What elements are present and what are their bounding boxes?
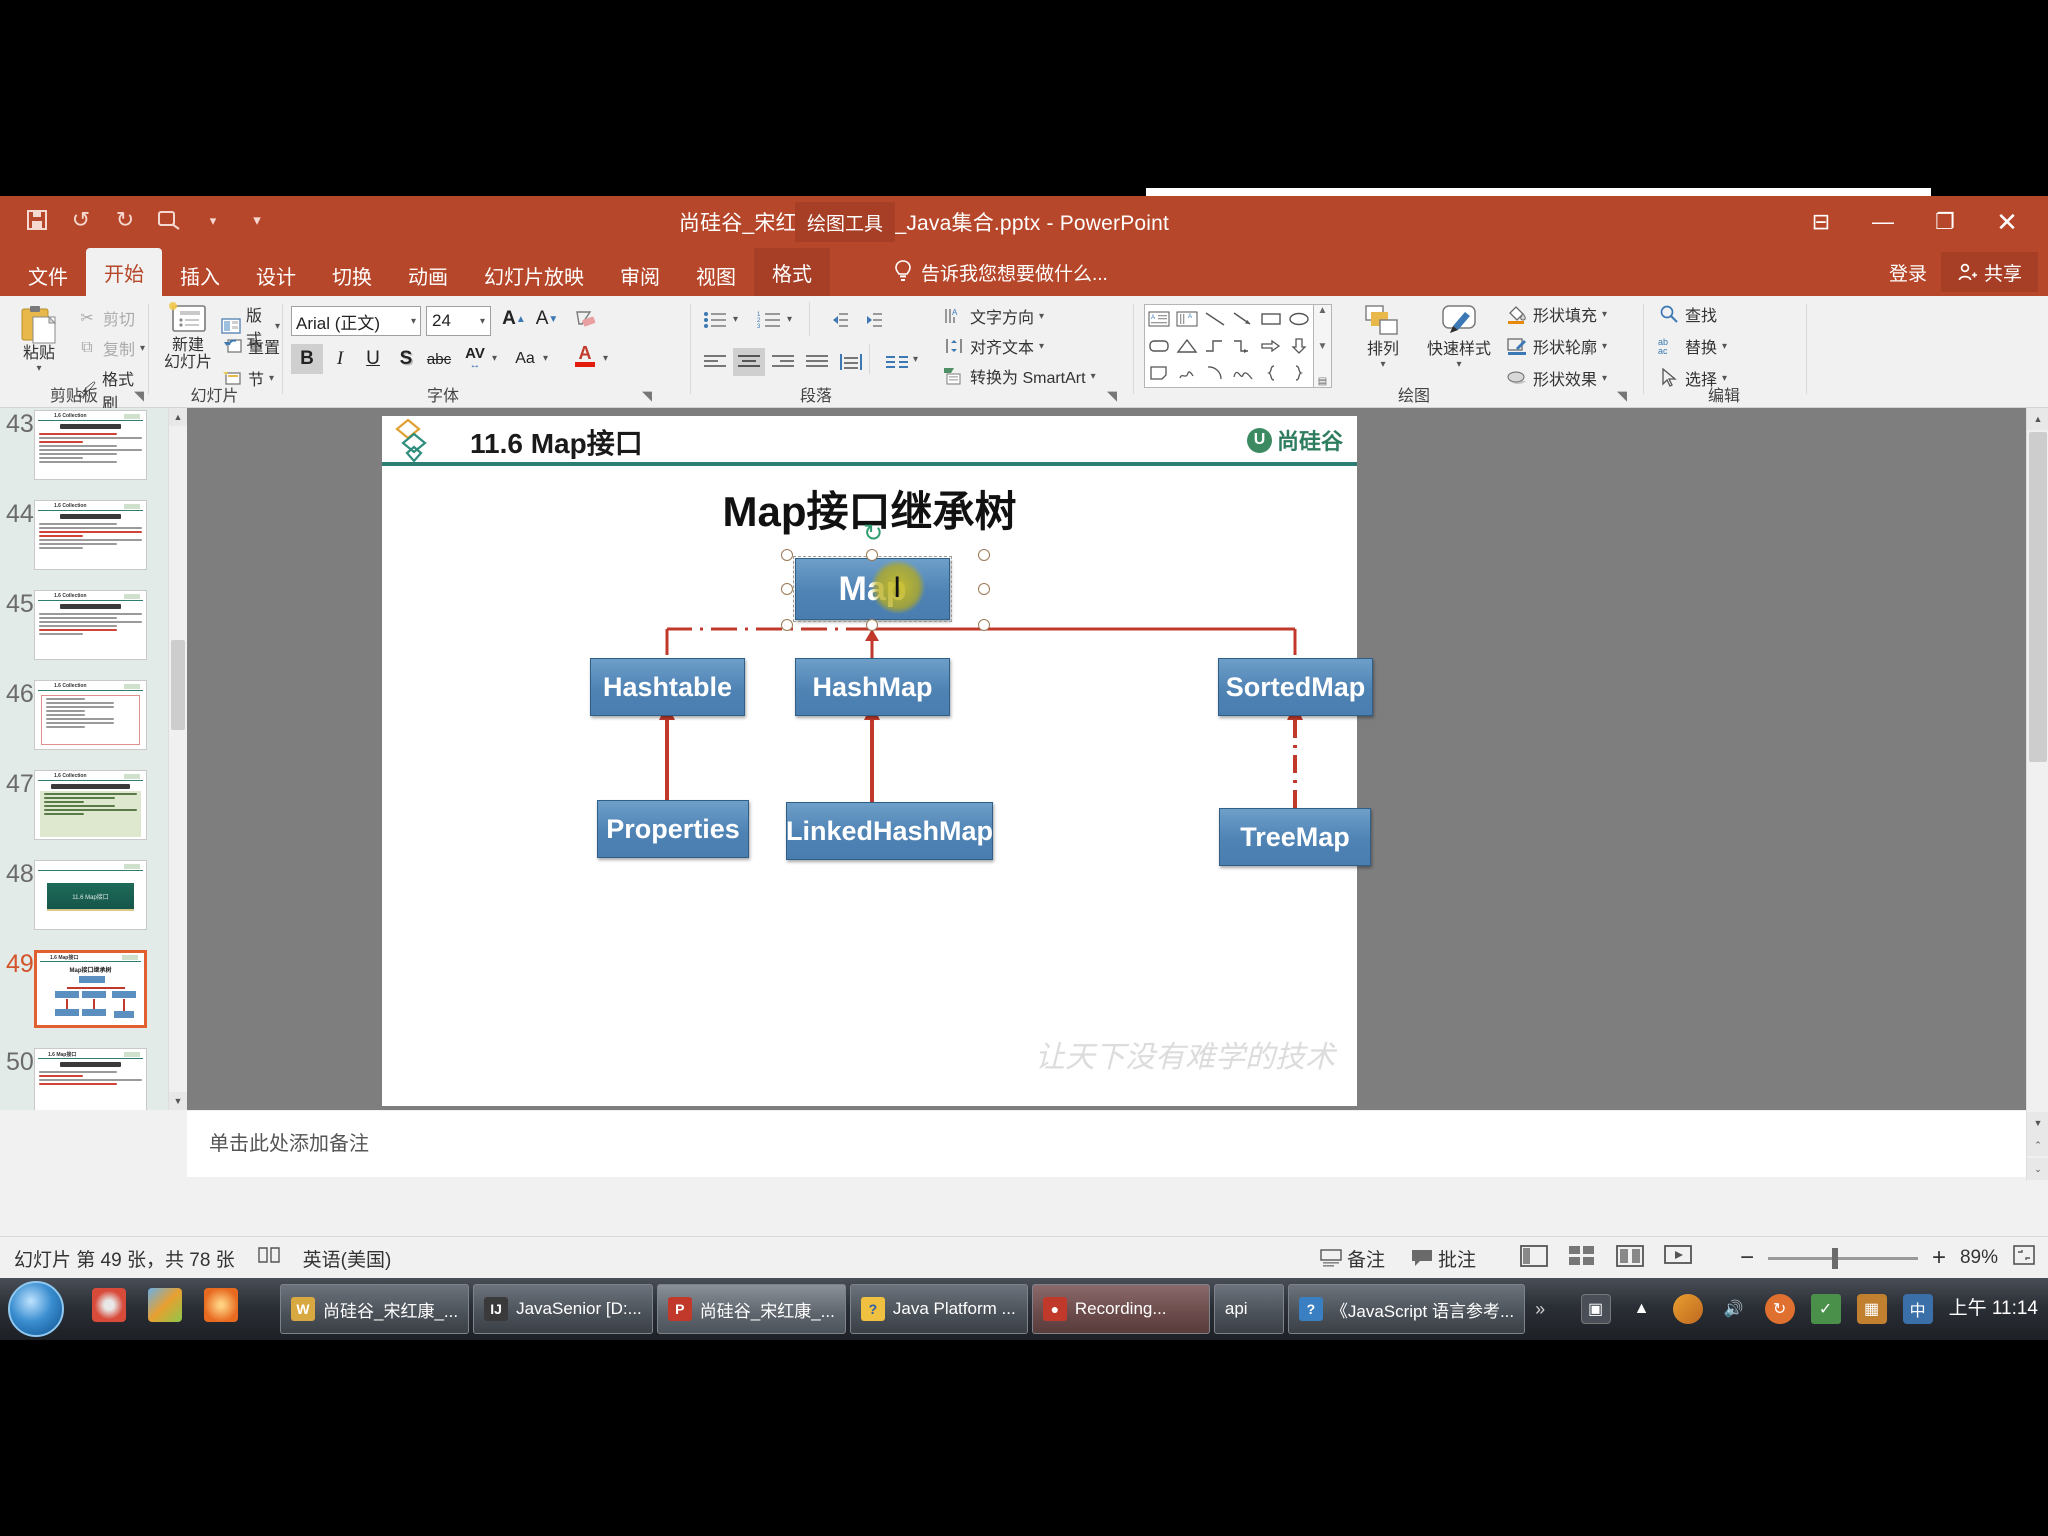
tab-format[interactable]: 格式 — [754, 248, 830, 296]
slide-count-status: 幻灯片 第 49 张，共 78 张 — [14, 1245, 235, 1272]
paste-icon — [19, 304, 59, 346]
taskbar-items: W 尚硅谷_宋红康_... IJ JavaSenior [D:... P 尚硅谷… — [280, 1284, 1551, 1334]
taskbar-item-label: Recording... — [1075, 1299, 1167, 1319]
tab-insert[interactable]: 插入 — [162, 254, 238, 296]
taskbar-item-label: Java Platform ... — [893, 1299, 1016, 1319]
replace-icon: abac — [1658, 335, 1680, 357]
tab-animations[interactable]: 动画 — [390, 254, 466, 296]
network-icon[interactable] — [1673, 1294, 1703, 1324]
status-bar: 幻灯片 第 49 张，共 78 张 英语(美国) 备注 批注 — [0, 1236, 2048, 1278]
thumbnail-preview: 1.6 Collection — [35, 681, 146, 749]
group-drawing: A A — [1134, 296, 1641, 408]
shape-down-arrow-icon[interactable] — [1285, 332, 1313, 359]
grow-font-button[interactable]: A▲ — [498, 304, 530, 334]
numbering-button[interactable]: 123 — [753, 306, 785, 334]
list-item[interactable]: 48 11.6 Map接口 — [0, 854, 185, 930]
window-title: 尚硅谷_宋红康_第11章_Java集合.pptx - PowerPoint — [0, 196, 2048, 248]
shape-fill-button[interactable]: 形状填充 ▾ — [1506, 302, 1607, 326]
zoom-controls: − + 89% — [1740, 1237, 2036, 1279]
account-area: 登录 共享 — [1875, 248, 2048, 296]
justify-button[interactable] — [801, 348, 833, 376]
comments-label: 批注 — [1438, 1245, 1476, 1272]
align-left-button[interactable] — [699, 348, 731, 376]
copy-icon: ⧉ — [76, 337, 98, 359]
show-desktop-icon[interactable]: ▣ — [1581, 1294, 1611, 1324]
bullets-button[interactable] — [699, 306, 731, 334]
slide-watermark: 让天下没有难学的技术 — [1035, 1032, 1335, 1076]
clock[interactable]: 上午 11:14 — [1949, 1298, 2038, 1320]
share-button[interactable]: 共享 — [1941, 252, 2038, 292]
align-right-button[interactable] — [767, 348, 799, 376]
scroll-down-icon[interactable]: ▼ — [169, 1092, 187, 1110]
character-spacing-button[interactable]: AV ↔ — [459, 342, 491, 372]
shape-effects-label: 形状效果 — [1533, 366, 1597, 390]
thumbnail-number: 47 — [6, 770, 34, 799]
strikethrough-button[interactable]: abc — [423, 344, 455, 374]
powerpoint-icon: P — [668, 1297, 692, 1321]
quick-styles-button[interactable]: 快速样式 ▾ — [1420, 304, 1498, 370]
taskbar-item-jsref[interactable]: ? 《JavaScript 语言参考... — [1288, 1284, 1525, 1334]
ribbon-tab-strip: 文件 开始 插入 设计 切换 动画 幻灯片放映 审阅 视图 格式 告诉我您想要做… — [0, 248, 2048, 296]
chevron-down-icon[interactable]: ▾ — [1602, 341, 1607, 352]
slide-thumbnail[interactable]: 1.6 Map接口 — [34, 1048, 147, 1110]
diagram-node-sortedmap[interactable]: SortedMap — [1218, 658, 1373, 716]
slide-canvas[interactable]: 11.6 Map接口 U 尚硅谷 Map接口继承树 — [382, 416, 1357, 1106]
shape-gallery-scrollbar[interactable]: ▲ ▼ ▤ — [1314, 304, 1332, 388]
smartart-icon — [943, 365, 965, 387]
drawing-dialog-launcher[interactable]: ◥ — [1617, 388, 1627, 404]
font-name-input[interactable]: Arial (正文) ▾ — [291, 306, 421, 336]
lightbulb-icon — [893, 260, 913, 284]
intellij-icon: IJ — [484, 1297, 508, 1321]
shape-textbox-icon[interactable]: A — [1145, 305, 1173, 332]
taskbar-item-javadoc[interactable]: ? Java Platform ... — [850, 1284, 1028, 1334]
chrome-icon[interactable] — [92, 1288, 126, 1322]
tab-review[interactable]: 审阅 — [602, 254, 678, 296]
taskbar-overflow-icon[interactable]: » — [1529, 1299, 1551, 1320]
notes-label: 备注 — [1347, 1245, 1385, 1272]
font-color-button[interactable]: A — [569, 340, 601, 370]
rotate-handle[interactable]: ↻ — [860, 520, 886, 546]
comments-toggle-button[interactable]: 批注 — [1411, 1245, 1476, 1272]
text-direction-label: 文字方向 — [970, 304, 1034, 328]
clipboard-dialog-launcher[interactable]: ◥ — [134, 388, 144, 404]
clear-formatting-icon[interactable] — [569, 304, 601, 334]
shape-rounded-rectangle-icon[interactable] — [1145, 332, 1173, 359]
svg-text:A: A — [1151, 315, 1155, 321]
group-label-editing: 编辑 — [1644, 382, 1804, 406]
shape-arc-icon[interactable] — [1201, 360, 1229, 387]
resize-handle-ne[interactable] — [978, 549, 990, 561]
thumbnail-preview: 1.6 Map接口 — [35, 1049, 146, 1110]
record-icon: ● — [1043, 1297, 1067, 1321]
slide-thumbnail[interactable]: 1.6 Collection — [34, 680, 147, 750]
convert-to-smartart-button[interactable]: 转换为 SmartArt ▾ — [943, 364, 1096, 388]
shape-right-arrow-icon[interactable] — [1257, 332, 1285, 359]
taskbar-item-word[interactable]: W 尚硅谷_宋红康_... — [280, 1284, 469, 1334]
chevron-down-icon[interactable]: ▾ — [140, 343, 145, 354]
window-controls: ⊟ — ❐ ✕ — [1790, 196, 2038, 248]
normal-view-button[interactable] — [1520, 1245, 1548, 1272]
tab-slideshow[interactable]: 幻灯片放映 — [466, 254, 602, 296]
diagram-node-treemap[interactable]: TreeMap — [1219, 808, 1371, 866]
shape-left-brace-icon[interactable] — [1257, 360, 1285, 387]
diamond-logo-icon — [394, 418, 440, 466]
group-paragraph: ▾ 123 ▾ — [691, 296, 1131, 408]
reading-view-button[interactable] — [1616, 1245, 1644, 1272]
chevron-down-icon[interactable]: ▾ — [787, 314, 792, 325]
scroll-up-icon[interactable]: ▲ — [169, 408, 187, 426]
start-button[interactable] — [8, 1281, 64, 1337]
slide-area-scrollbar[interactable]: ▲ ▼ ⌃ ⌄ — [2026, 408, 2048, 1180]
notes-icon — [1320, 1247, 1342, 1269]
paint-icon[interactable] — [148, 1288, 182, 1322]
brand-logo: U 尚硅谷 — [1247, 424, 1343, 456]
resize-handle-w[interactable] — [781, 583, 793, 595]
update-icon[interactable]: ✓ — [1811, 1294, 1841, 1324]
new-slide-button[interactable]: 新建 幻灯片 — [157, 302, 219, 372]
slide-header-rule — [382, 462, 1357, 466]
context-tool-label: 绘图工具 — [795, 202, 895, 242]
align-center-button[interactable] — [733, 348, 765, 376]
window-title-text: 尚硅谷_宋红康_第11章_Java集合.pptx - PowerPoint — [679, 207, 1169, 237]
reset-button[interactable]: 重置 — [221, 334, 280, 358]
chevron-down-icon[interactable]: ▾ — [1091, 371, 1096, 382]
tell-me-search[interactable]: 告诉我您想要做什么... — [893, 248, 1108, 296]
resize-handle-se[interactable] — [978, 619, 990, 631]
paste-label: 粘贴 — [23, 346, 55, 363]
shape-gallery-grid[interactable]: A A — [1144, 304, 1314, 388]
svg-text:A: A — [1188, 314, 1192, 320]
chevron-down-icon[interactable]: ▾ — [1602, 309, 1607, 320]
scroll-up-icon[interactable]: ▲ — [1318, 305, 1328, 316]
person-add-icon — [1957, 262, 1977, 282]
font-size-value: 24 — [432, 311, 480, 331]
replace-button[interactable]: abac 替换 ▾ — [1658, 334, 1727, 358]
notes-placeholder: 单击此处添加备注 — [209, 1127, 369, 1156]
zoom-slider[interactable] — [1768, 1257, 1918, 1260]
reset-icon — [221, 335, 243, 357]
zoom-in-button[interactable]: + — [1932, 1244, 1946, 1272]
slide-thumbnail[interactable]: 1.6 Collection — [34, 590, 147, 660]
slide-thumbnail[interactable]: 1.6 Collection — [34, 500, 147, 570]
system-tray: ▣ ▲ 🔊 ↻ ✓ ▦ 中 上午 11:14 — [1581, 1278, 2038, 1340]
next-slide-icon[interactable]: ⌄ — [2027, 1158, 2048, 1180]
thumbnail-preview: 1.6 Map接口 Map接口继承树 — [37, 953, 144, 1025]
media-icon[interactable]: ▦ — [1857, 1294, 1887, 1324]
list-item[interactable]: 47 1.6 Collection — [0, 764, 185, 840]
chevron-down-icon[interactable]: ▾ — [1039, 311, 1044, 322]
arrange-button[interactable]: 排列 ▾ — [1352, 304, 1414, 370]
align-text-icon — [943, 335, 965, 357]
chevron-down-icon[interactable]: ▾ — [1602, 373, 1607, 384]
chevron-down-icon[interactable]: ▾ — [1456, 359, 1461, 370]
distribute-text-button[interactable] — [835, 348, 867, 376]
clock-time: 上午 11:14 — [1949, 1298, 2038, 1319]
thumbnail-number: 50 — [6, 1048, 34, 1077]
taskbar-item-label: 《JavaScript 语言参考... — [1331, 1297, 1514, 1322]
list-item[interactable]: 46 1.6 Collection — [0, 674, 185, 750]
shrink-font-button[interactable]: A▼ — [531, 304, 563, 334]
shape-fill-icon — [1506, 303, 1528, 325]
shrink-font-label: A — [536, 308, 549, 330]
status-left: 幻灯片 第 49 张，共 78 张 英语(美国) — [14, 1237, 391, 1279]
taskbar-item-label: api — [1225, 1299, 1248, 1319]
arrange-icon — [1363, 304, 1403, 342]
powerpoint-window: ↺ ↻ ▾ ▾ 尚硅谷_宋红康_第11章_Java集合.pptx - Power… — [0, 196, 2048, 1278]
group-clipboard: 粘贴 ▾ ✂ 剪切 ⧉ 复制 ▾ 🖌 格式刷 剪贴板 ◥ — [0, 296, 148, 408]
shape-arrow-icon[interactable] — [1229, 305, 1257, 332]
group-label-slides: 幻灯片 — [149, 382, 280, 406]
italic-button[interactable]: I — [324, 344, 356, 374]
new-slide-icon — [166, 302, 210, 338]
list-item[interactable]: 49 1.6 Map接口 Map接口继承树 — [0, 944, 185, 1028]
shape-scribble-icon[interactable] — [1173, 360, 1201, 387]
copy-label: 复制 — [103, 336, 135, 360]
slide-thumbnail[interactable]: 1.6 Collection — [34, 410, 147, 480]
font-size-input[interactable]: 24 ▾ — [426, 306, 491, 336]
shield-icon[interactable]: ↻ — [1765, 1294, 1795, 1324]
group-label-paragraph: 段落 — [691, 382, 941, 406]
font-name-value: Arial (正文) — [296, 309, 411, 334]
shape-rectangle-icon[interactable] — [1257, 305, 1285, 332]
thumbnail-number: 45 — [6, 590, 34, 619]
group-label-drawing: 绘图 — [1314, 382, 1514, 406]
taskbar-item-label: 尚硅谷_宋红康_... — [323, 1297, 458, 1322]
screen: ↺ ↻ ▾ ▾ 尚硅谷_宋红康_第11章_Java集合.pptx - Power… — [0, 0, 2048, 1536]
group-label-clipboard: 剪贴板 — [0, 382, 148, 406]
find-button[interactable]: 查找 — [1658, 302, 1717, 326]
svg-text:3: 3 — [757, 324, 761, 329]
spell-check-icon[interactable] — [257, 1245, 281, 1271]
chevron-down-icon[interactable]: ▾ — [480, 316, 485, 327]
shape-line-icon[interactable] — [1201, 305, 1229, 332]
convert-to-smartart-label: 转换为 SmartArt — [970, 364, 1086, 388]
chevron-down-icon[interactable]: ▾ — [543, 353, 548, 364]
notes-toggle-button[interactable]: 备注 — [1320, 1245, 1385, 1272]
thumbnail-number: 44 — [6, 500, 34, 529]
chm-icon: ? — [1299, 1297, 1323, 1321]
font-dialog-launcher[interactable]: ◥ — [642, 388, 652, 404]
title-bar: ↺ ↻ ▾ ▾ 尚硅谷_宋红康_第11章_Java集合.pptx - Power… — [0, 196, 2048, 248]
quick-styles-label: 快速样式 — [1427, 342, 1491, 359]
tab-home[interactable]: 开始 — [86, 248, 162, 296]
paragraph-dialog-launcher[interactable]: ◥ — [1107, 388, 1117, 404]
tab-transitions[interactable]: 切换 — [314, 254, 390, 296]
chevron-down-icon[interactable]: ▾ — [733, 314, 738, 325]
slideshow-button[interactable] — [1664, 1245, 1692, 1272]
find-label: 查找 — [1685, 302, 1717, 326]
fit-to-window-icon[interactable] — [2012, 1244, 2036, 1272]
grow-font-label: A — [502, 308, 516, 330]
taskbar: W 尚硅谷_宋红康_... IJ JavaSenior [D:... P 尚硅谷… — [0, 1278, 2048, 1340]
shape-folded-corner-icon[interactable] — [1145, 360, 1173, 387]
firefox-icon[interactable] — [204, 1288, 238, 1322]
cut-button[interactable]: ✂ 剪切 — [76, 306, 135, 330]
text-cursor: I — [893, 573, 901, 603]
slide-header-title: 11.6 Map接口 — [470, 422, 643, 462]
shape-freeform-curve-icon[interactable] — [1229, 360, 1257, 387]
thumbnail-pane-scrollbar[interactable]: ▲ ▼ — [168, 408, 186, 1110]
group-label-font: 字体 — [283, 382, 603, 406]
taskbar-item-api[interactable]: api — [1214, 1284, 1284, 1334]
thumbnail-preview: 1.6 Collection — [35, 501, 146, 569]
resize-handle-nw[interactable] — [781, 549, 793, 561]
cut-label: 剪切 — [103, 306, 135, 330]
group-editing: 查找 abac 替换 ▾ 选择 ▾ 编辑 — [1644, 296, 1804, 408]
tell-me-text: 告诉我您想要做什么... — [921, 259, 1108, 286]
scroll-down-icon[interactable]: ▼ — [1318, 341, 1328, 352]
bold-button[interactable]: B — [291, 344, 323, 374]
diagram-node-hashtable[interactable]: Hashtable — [590, 658, 745, 716]
shape-elbow-arrow-icon[interactable] — [1229, 332, 1257, 359]
text-shadow-button[interactable]: S — [390, 344, 422, 374]
tab-file[interactable]: 文件 — [10, 254, 86, 296]
diagram-node-linkedhashmap[interactable]: LinkedHashMap — [786, 802, 993, 860]
taskbar-item-intellij[interactable]: IJ JavaSenior [D:... — [473, 1284, 653, 1334]
copy-button[interactable]: ⧉ 复制 ▾ — [76, 336, 145, 360]
group-slides: 新建 幻灯片 版式 ▾ 重置 — [149, 296, 280, 408]
resize-handle-sw[interactable] — [781, 619, 793, 631]
slide-thumbnail[interactable]: 1.6 Collection — [34, 770, 147, 840]
slide-sorter-button[interactable] — [1568, 1245, 1596, 1272]
svg-text:A: A — [952, 308, 958, 317]
sign-in-link[interactable]: 登录 — [1875, 259, 1941, 286]
restore-button[interactable]: ❐ — [1914, 196, 1976, 248]
shape-outline-button[interactable]: 形状轮廓 ▾ — [1506, 334, 1607, 358]
taskbar-item-label: JavaSenior [D:... — [516, 1299, 642, 1319]
diagram-node-properties[interactable]: Properties — [597, 800, 749, 858]
shape-vertical-textbox-icon[interactable]: A — [1173, 305, 1201, 332]
shape-elbow-connector-icon[interactable] — [1201, 332, 1229, 359]
resize-handle-s[interactable] — [866, 619, 878, 631]
language-status[interactable]: 英语(美国) — [303, 1245, 392, 1272]
taskbar-item-label: 尚硅谷_宋红康_... — [700, 1297, 835, 1322]
scrollbar-thumb[interactable] — [171, 640, 185, 730]
resize-handle-n[interactable] — [866, 549, 878, 561]
brand-mark-icon: U — [1247, 428, 1272, 453]
group-font: Arial (正文) ▾ 24 ▾ A▲ A▼ B I U — [283, 296, 688, 408]
chevron-down-icon[interactable]: ▾ — [36, 363, 41, 374]
chevron-down-icon[interactable]: ▾ — [603, 353, 608, 364]
font-color-label: A — [579, 344, 592, 362]
notes-pane[interactable]: 单击此处添加备注 — [187, 1111, 2026, 1177]
slide-canvas-area: 11.6 Map接口 U 尚硅谷 Map接口继承树 — [187, 408, 2026, 1110]
thumbnail-preview: 11.6 Map接口 — [35, 861, 146, 929]
brand-name: 尚硅谷 — [1277, 424, 1343, 456]
scrollbar-thumb[interactable] — [2029, 432, 2047, 762]
svg-text:ac: ac — [1658, 346, 1668, 356]
new-slide-label-line1: 新建 — [172, 338, 204, 355]
quick-launch-bar — [92, 1288, 238, 1322]
chevron-down-icon[interactable]: ▾ — [1722, 341, 1727, 352]
ribbon-content: 粘贴 ▾ ✂ 剪切 ⧉ 复制 ▾ 🖌 格式刷 剪贴板 ◥ — [0, 296, 2048, 408]
share-label: 共享 — [1984, 259, 2022, 286]
tab-design[interactable]: 设计 — [238, 254, 314, 296]
letterbox-bottom — [0, 1340, 2048, 1536]
chevron-down-icon[interactable]: ▾ — [913, 354, 918, 365]
quick-styles-icon — [1437, 304, 1481, 342]
thumbnail-number: 46 — [6, 680, 34, 709]
thumbnail-preview: 1.6 Collection — [35, 411, 146, 479]
shape-triangle-icon[interactable] — [1173, 332, 1201, 359]
change-case-button[interactable]: Aa — [509, 344, 541, 374]
taskbar-item-powerpoint[interactable]: P 尚硅谷_宋红康_... — [657, 1284, 846, 1334]
zoom-slider-handle[interactable] — [1832, 1248, 1838, 1269]
zoom-out-button[interactable]: − — [1740, 1244, 1754, 1272]
chevron-down-icon[interactable]: ▾ — [1380, 359, 1385, 370]
tray-expand-icon[interactable]: ▲ — [1627, 1294, 1657, 1324]
decrease-indent-button[interactable] — [821, 306, 853, 334]
shape-outline-icon — [1506, 335, 1528, 357]
diagram-node-hashmap[interactable]: HashMap — [795, 658, 950, 716]
align-text-label: 对齐文本 — [970, 334, 1034, 358]
chevron-down-icon[interactable]: ▾ — [411, 316, 416, 327]
language-icon[interactable]: 中 — [1903, 1294, 1933, 1324]
ribbon-display-options-icon[interactable]: ⊟ — [1790, 196, 1852, 248]
chevron-down-icon[interactable]: ▾ — [275, 321, 280, 332]
resize-handle-e[interactable] — [978, 583, 990, 595]
scroll-up-icon[interactable]: ▲ — [2027, 408, 2048, 430]
slide-thumbnail-selected[interactable]: 1.6 Map接口 Map接口继承树 — [34, 950, 147, 1028]
text-direction-icon: A — [943, 305, 965, 327]
thumbnail-number: 43 — [6, 410, 34, 439]
search-icon — [1658, 303, 1680, 325]
shape-effects-button[interactable]: 形状效果 ▾ — [1506, 366, 1607, 390]
scroll-down-icon[interactable]: ▼ — [2027, 1112, 2048, 1134]
thumbnail-number: 49 — [6, 950, 34, 979]
tab-view[interactable]: 视图 — [678, 254, 754, 296]
view-buttons — [1520, 1237, 1692, 1279]
shape-oval-icon[interactable] — [1285, 305, 1313, 332]
slide-thumbnail[interactable]: 11.6 Map接口 — [34, 860, 147, 930]
minimize-button[interactable]: — — [1852, 196, 1914, 248]
slide-header: 11.6 Map接口 U 尚硅谷 — [382, 416, 1357, 466]
new-slide-label-line2: 幻灯片 — [164, 355, 212, 372]
thumbnail-number: 48 — [6, 860, 34, 889]
shape-right-brace-icon[interactable] — [1285, 360, 1313, 387]
shape-outline-label: 形状轮廓 — [1533, 334, 1597, 358]
volume-icon[interactable]: 🔊 — [1719, 1294, 1749, 1324]
word-doc-icon: W — [291, 1297, 315, 1321]
zoom-level[interactable]: 89% — [1960, 1247, 1998, 1269]
arrange-label: 排列 — [1367, 342, 1399, 359]
chevron-down-icon[interactable]: ▾ — [1039, 341, 1044, 352]
taskbar-item-recording[interactable]: ● Recording... — [1032, 1284, 1210, 1334]
list-item[interactable]: 43 1.6 Collection — [0, 408, 185, 480]
list-item[interactable]: 50 1.6 Map接口 — [0, 1042, 185, 1110]
align-text-button[interactable]: 对齐文本 ▾ — [943, 334, 1044, 358]
help-icon: ? — [861, 1297, 885, 1321]
paste-button[interactable]: 粘贴 ▾ — [8, 304, 70, 374]
list-item[interactable]: 45 1.6 Collection — [0, 584, 185, 660]
scissors-icon: ✂ — [76, 307, 98, 329]
close-button[interactable]: ✕ — [1976, 196, 2038, 248]
replace-label: 替换 — [1685, 334, 1717, 358]
slide-thumbnail-pane[interactable]: 43 1.6 Collection 44 — [0, 408, 186, 1110]
list-item[interactable]: 44 1.6 Collection — [0, 494, 185, 570]
previous-slide-icon[interactable]: ⌃ — [2027, 1134, 2048, 1156]
columns-button[interactable] — [881, 348, 913, 376]
shape-gallery[interactable]: A A — [1144, 304, 1332, 388]
thumbnail-preview: 1.6 Collection — [35, 771, 146, 839]
increase-indent-button[interactable] — [855, 306, 887, 334]
shape-fill-label: 形状填充 — [1533, 302, 1597, 326]
chevron-down-icon[interactable]: ▾ — [492, 353, 497, 364]
underline-button[interactable]: U — [357, 344, 389, 374]
thumbnail-preview: 1.6 Collection — [35, 591, 146, 659]
text-direction-button[interactable]: A 文字方向 ▾ — [943, 304, 1044, 328]
